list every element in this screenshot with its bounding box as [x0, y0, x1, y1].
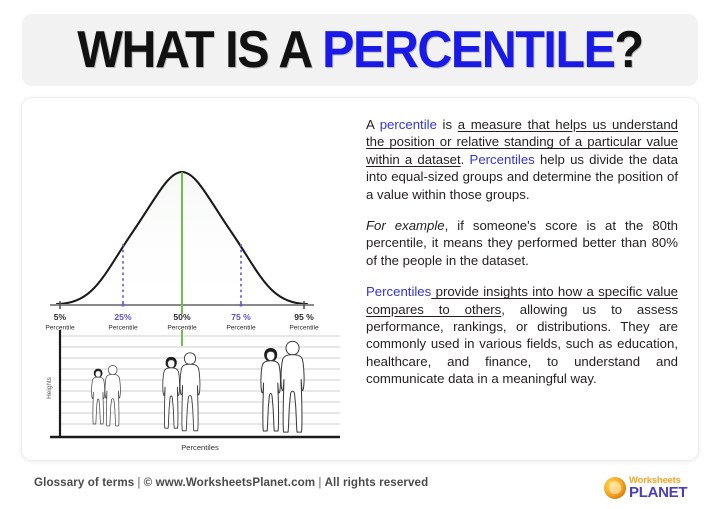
p1-lead: A [366, 117, 380, 132]
people-group-50th [163, 353, 200, 431]
tick-75-percent [239, 303, 242, 306]
tick-25-percent [121, 303, 124, 306]
infographic-page: WHAT IS A PERCENTILE? [0, 0, 720, 509]
paragraph-insights: Percentiles provide insights into how a … [366, 283, 678, 387]
label-percent-25: 25% [114, 312, 132, 322]
logo-word-planet: PLANET [629, 485, 687, 500]
title-part-1: WHAT IS A [77, 21, 322, 79]
illustration-svg: 5% Percentile 25% Percentile 50% Percent… [22, 98, 344, 460]
percentile-illustration: 5% Percentile 25% Percentile 50% Percent… [22, 98, 344, 460]
title-banner: WHAT IS A PERCENTILE? [22, 14, 698, 86]
p1-is: is [437, 117, 458, 132]
p1-period: . [461, 152, 470, 167]
label-percent-75: 75 % [231, 312, 251, 322]
worksheets-planet-logo[interactable]: Worksheets PLANET [604, 473, 696, 503]
title-part-highlight: PERCENTILE [322, 21, 614, 79]
footer-separator-1: | [134, 476, 143, 489]
paragraph-definition: A percentile is a measure that helps us … [366, 116, 678, 203]
footer-glossary-label: Glossary of terms [34, 476, 134, 489]
title-part-question-mark: ? [615, 21, 643, 79]
people-group-25th [92, 366, 121, 426]
bell-curve-group: 5% Percentile 25% Percentile 50% Percent… [45, 172, 319, 332]
logo-wordmark: Worksheets PLANET [629, 476, 687, 500]
footer-copyright[interactable]: © www.WorksheetsPlanet.com [144, 476, 316, 489]
heights-x-axis-label: Percentiles [181, 443, 219, 452]
planet-swirl-icon [604, 477, 626, 499]
label-percentile-95: Percentile [289, 325, 319, 332]
p2-italic-lead: For example [366, 218, 445, 233]
p1-keyword-percentile: percentile [380, 117, 437, 132]
label-percent-95: 95 % [294, 312, 314, 322]
heights-y-axis-label: Heights [46, 377, 53, 399]
p3-keyword-percentiles: Percentiles [366, 284, 431, 299]
label-percentile-75: Percentile [226, 325, 256, 332]
page-title: WHAT IS A PERCENTILE? [77, 24, 642, 76]
heights-chart-group: Heights Percentiles [46, 330, 340, 452]
label-percent-5: 5% [54, 312, 67, 322]
people-group-95th [261, 341, 304, 432]
p1-keyword-percentiles: Percentiles [470, 152, 535, 167]
explanation-text-column: A percentile is a measure that helps us … [344, 108, 688, 453]
paragraph-example: For example, if someone's score is at th… [366, 217, 678, 269]
footer-rights: All rights reserved [325, 476, 429, 489]
page-footer: Glossary of terms|© www.WorksheetsPlanet… [0, 466, 720, 509]
content-card: 5% Percentile 25% Percentile 50% Percent… [22, 98, 698, 460]
footer-separator-2: | [315, 476, 324, 489]
label-percent-50: 50% [173, 312, 191, 322]
footer-credits: Glossary of terms|© www.WorksheetsPlanet… [34, 476, 428, 489]
label-percentile-25: Percentile [108, 325, 138, 332]
